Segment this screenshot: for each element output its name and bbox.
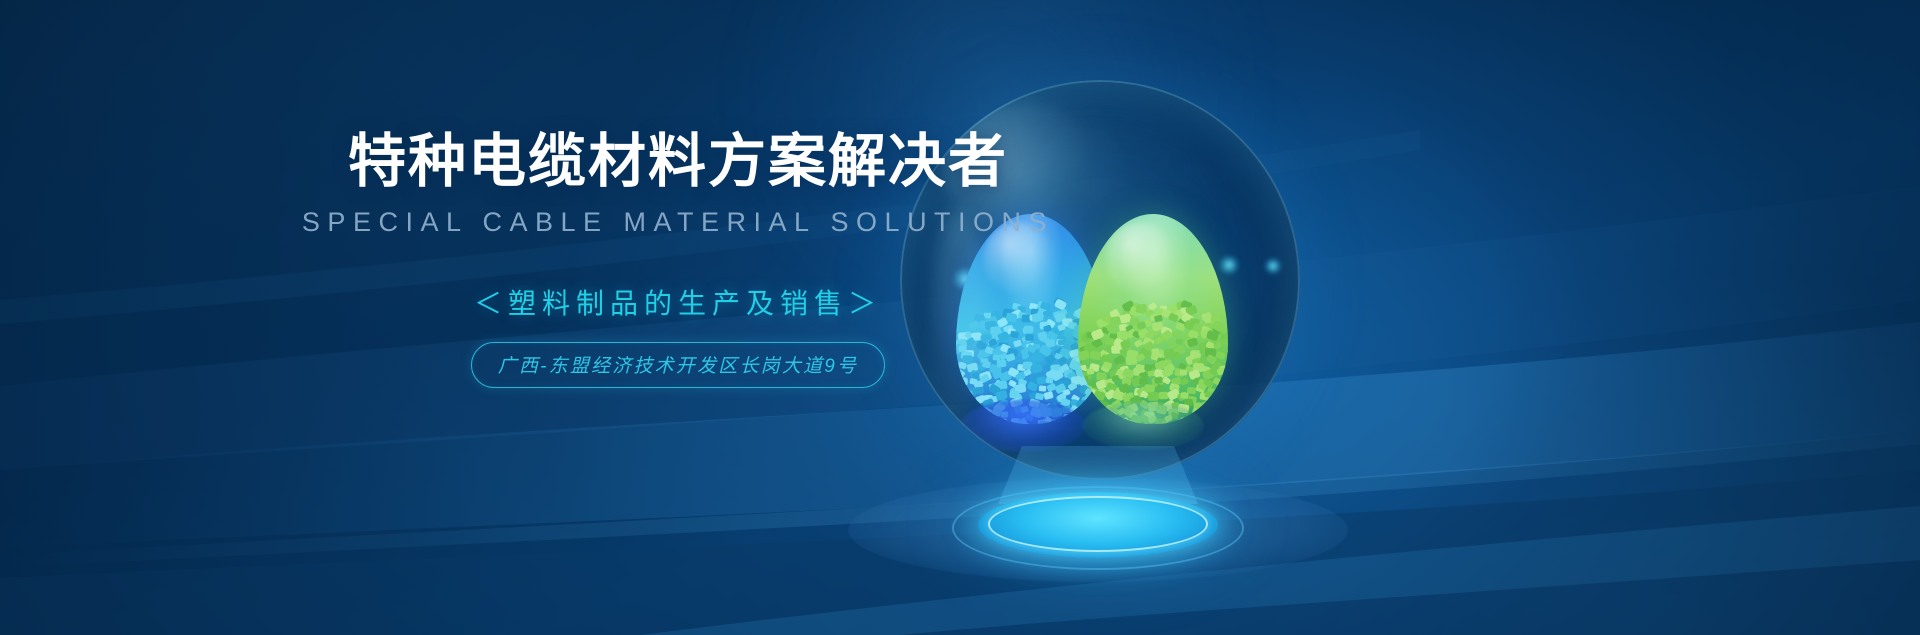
subtitle-english: SPECIAL CABLE MATERIAL SOLUTIONS — [298, 207, 1058, 238]
address-badge-row: 广西-东盟经济技术开发区长岗大道9号 — [298, 342, 1058, 388]
glowing-podium — [848, 452, 1348, 582]
podium-inner-ring — [988, 496, 1208, 552]
tagline: ＜塑料制品的生产及销售＞ — [298, 282, 1058, 322]
hero-text-block: 特种电缆材料方案解决者 SPECIAL CABLE MATERIAL SOLUT… — [298, 130, 1058, 388]
page-title: 特种电缆材料方案解决者 — [298, 130, 1058, 195]
hero-banner: 特种电缆材料方案解决者 SPECIAL CABLE MATERIAL SOLUT… — [0, 0, 1920, 635]
address-badge: 广西-东盟经济技术开发区长岗大道9号 — [471, 342, 886, 388]
